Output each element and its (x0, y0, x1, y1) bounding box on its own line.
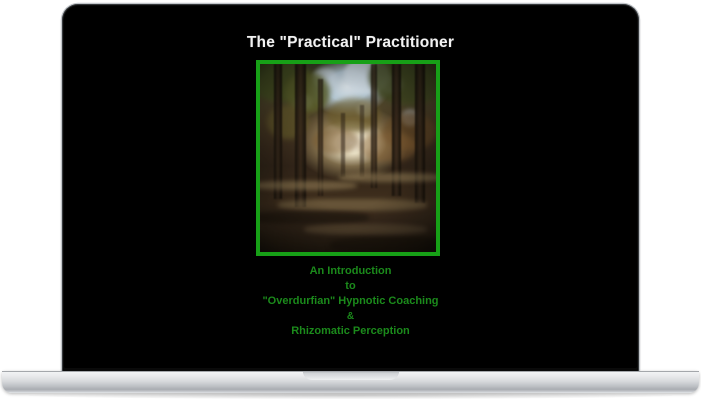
ground-shadow-streak (330, 237, 436, 252)
laptop-lid: The "Practical" Practitioner (62, 4, 639, 373)
subtitle-line-4: & (64, 309, 637, 324)
ground-light-streak (304, 224, 427, 235)
ground-light-streak (260, 181, 357, 190)
laptop-base (2, 371, 699, 393)
subtitle-line-3: "Overdurfian" Hypnotic Coaching (64, 294, 637, 309)
tree-trunk (274, 64, 282, 199)
slide-title: The "Practical" Practitioner (64, 34, 637, 52)
subtitle-line-2: to (64, 279, 637, 294)
slide-image-frame (256, 60, 440, 256)
ground-light-streak (278, 199, 428, 210)
foliage-blob (359, 132, 419, 162)
screenshot-stage: The "Practical" Practitioner (0, 0, 701, 405)
laptop-screen[interactable]: The "Practical" Practitioner (64, 6, 637, 368)
ground-light-streak (339, 173, 436, 182)
tree-trunk (415, 64, 426, 203)
tree-trunk (371, 64, 377, 188)
subtitle-line-1: An Introduction (64, 264, 637, 279)
tree-trunk (341, 113, 345, 177)
slide-subtitle: An Introduction to "Overdurfian" Hypnoti… (64, 264, 637, 339)
tree-trunk (360, 105, 364, 176)
base-lid-notch (303, 371, 399, 380)
tree-trunk (318, 79, 323, 196)
ground-shadow-streak (260, 211, 369, 224)
laptop-drop-shadow (28, 392, 673, 399)
forest-path-photograph (260, 64, 436, 252)
subtitle-line-5: Rhizomatic Perception (64, 324, 637, 339)
presentation-slide[interactable]: The "Practical" Practitioner (64, 6, 637, 368)
